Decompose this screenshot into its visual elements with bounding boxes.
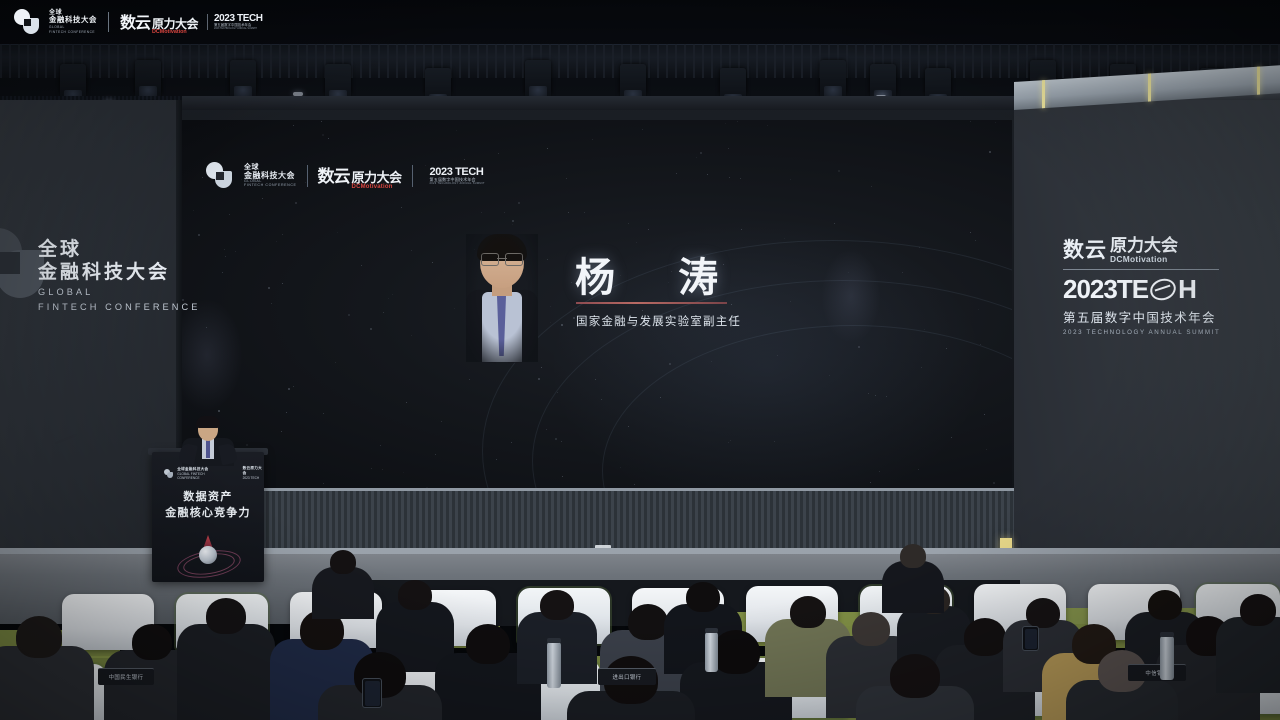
truss-rib	[189, 44, 191, 78]
truss-rib	[126, 44, 128, 78]
star	[271, 303, 272, 304]
star	[919, 247, 920, 248]
audience-person-body	[177, 624, 275, 720]
star	[401, 207, 402, 208]
star	[592, 139, 593, 140]
star	[573, 317, 575, 319]
truss-rib	[0, 44, 2, 78]
right-wall-dcmotivation: DCMotivation	[1110, 255, 1178, 264]
star	[337, 232, 338, 233]
stage-light	[525, 60, 551, 100]
table-nameplate: 进出口银行	[598, 668, 656, 685]
star	[262, 198, 263, 199]
star	[335, 362, 336, 363]
stage-guest-head	[330, 550, 356, 574]
truss-rib	[171, 44, 173, 78]
truss-rib	[27, 44, 29, 78]
left-wall-en1: GLOBAL	[38, 287, 200, 298]
truss-rib	[504, 44, 506, 78]
star	[879, 471, 880, 472]
star	[555, 438, 557, 440]
star	[741, 229, 742, 230]
podium-title: 数据资产 金融核心竞争力	[152, 490, 264, 522]
truss-rib	[567, 44, 569, 78]
truss-rib	[981, 44, 983, 78]
truss-rib	[288, 44, 290, 78]
stage-light	[820, 60, 846, 100]
truss-rib	[486, 44, 488, 78]
star	[707, 174, 708, 175]
watermark-tech-logo: 2023 TECH 第五届数字中国技术年会 2023 TECHNOLOGY AN…	[207, 14, 263, 31]
star	[870, 482, 871, 483]
truss-rib	[900, 44, 902, 78]
smartphone-icon[interactable]	[1022, 626, 1039, 651]
star	[767, 125, 768, 126]
truss-rib	[990, 44, 992, 78]
star	[511, 442, 512, 443]
truss-rib	[207, 44, 209, 78]
truss-rib	[810, 44, 812, 78]
truss-rib	[270, 44, 272, 78]
star	[403, 472, 404, 473]
water-bottle	[705, 632, 718, 672]
podium-partner-cn: 数云原力大会	[243, 466, 264, 476]
star	[193, 210, 194, 211]
truss-rib	[522, 44, 524, 78]
star	[435, 454, 436, 455]
star	[547, 148, 548, 149]
star	[829, 375, 830, 376]
podium-title-line1: 数据资产	[152, 490, 264, 506]
truss-rib	[369, 44, 371, 78]
podium-logo-lockup: 全球金融科技大会 GLOBAL FINTECH CONFERENCE 数云原力大…	[164, 466, 264, 480]
star	[328, 138, 329, 139]
truss-rib	[657, 44, 659, 78]
truss-rib	[792, 44, 794, 78]
watermark-gfc-en2: FINTECH CONFERENCE	[49, 31, 97, 35]
audience-person-head	[852, 612, 890, 646]
audience-person-head	[890, 654, 940, 698]
truss-rib	[747, 44, 749, 78]
star	[676, 173, 677, 174]
truss-rib	[468, 44, 470, 78]
audience-person-head	[466, 624, 510, 664]
truss-rib	[918, 44, 920, 78]
star	[293, 386, 294, 387]
gfc-monogram-icon	[206, 162, 234, 190]
star	[361, 265, 362, 266]
truss-rib	[36, 44, 38, 78]
star	[411, 335, 412, 336]
star	[978, 309, 979, 310]
star	[980, 344, 981, 345]
truss-rib	[1071, 44, 1073, 78]
star	[777, 355, 778, 356]
star	[902, 272, 903, 273]
left-wall-text: 全球 金融科技大会 GLOBAL FINTECH CONFERENCE	[38, 238, 200, 313]
truss-rib	[612, 44, 614, 78]
star	[518, 202, 520, 204]
right-wall-summit-en: 2023 TECHNOLOGY ANNUAL SUMMIT	[1063, 329, 1220, 336]
star	[790, 301, 791, 302]
star	[321, 121, 322, 122]
star	[557, 392, 558, 393]
audience-person-head	[1148, 590, 1182, 620]
watermark-divider	[108, 12, 109, 32]
star	[202, 177, 203, 178]
water-bottle	[1160, 636, 1174, 680]
star	[382, 469, 383, 470]
truss-rib	[180, 44, 182, 78]
star	[561, 441, 562, 442]
star	[774, 441, 775, 442]
star	[628, 426, 629, 427]
right-wall-yuanli: 原力大会	[1110, 237, 1178, 255]
audience-person-head	[964, 618, 1006, 656]
star	[546, 429, 547, 430]
audience-person-head	[1026, 598, 1060, 628]
right-wall-rule	[1063, 269, 1219, 270]
truss-rib	[693, 44, 695, 78]
audience-person-head	[206, 598, 246, 634]
audience-person-head	[540, 590, 574, 620]
truss-rib	[558, 44, 560, 78]
speaker-at-podium	[178, 418, 238, 462]
truss-rib	[711, 44, 713, 78]
truss-rib	[387, 44, 389, 78]
star	[504, 212, 505, 213]
star	[566, 178, 567, 179]
e-circle-icon	[1147, 275, 1178, 303]
star	[871, 186, 872, 187]
truss-rib	[1107, 44, 1109, 78]
star	[561, 324, 563, 326]
screen-dcm-logo: 数云 原力大会 DCMotivation	[318, 162, 402, 190]
table-nameplate-label: 中国民生银行	[109, 673, 144, 681]
star	[469, 379, 470, 380]
right-wall-h: H	[1178, 274, 1196, 305]
truss-rib	[846, 44, 848, 78]
star	[229, 214, 230, 215]
left-wall-cn2: 金融科技大会	[38, 261, 200, 284]
truss-rib	[864, 44, 866, 78]
star	[595, 379, 596, 380]
table-nameplate: 中国民生银行	[98, 668, 154, 685]
stage-light	[230, 60, 256, 100]
star	[295, 202, 297, 204]
star	[975, 240, 976, 241]
table-nameplate: 中信银行	[1128, 664, 1186, 681]
screen-dcm-en: DCMotivation	[352, 184, 402, 190]
stage-guest-head	[900, 544, 926, 568]
truss-rib	[1098, 44, 1100, 78]
truss-rib	[459, 44, 461, 78]
star	[246, 444, 248, 446]
watermark-dcm-cn: 数云	[120, 9, 150, 33]
watermark-gfc-monogram-icon	[14, 9, 40, 35]
star	[636, 242, 637, 243]
star	[946, 348, 947, 349]
phone-screen	[1025, 629, 1037, 649]
stage-light	[135, 60, 161, 100]
truss-rib	[306, 44, 308, 78]
star	[218, 410, 220, 412]
star	[512, 224, 513, 225]
star	[293, 125, 294, 126]
truss-rib	[261, 44, 263, 78]
star	[371, 468, 372, 469]
star	[660, 397, 661, 398]
star	[282, 234, 283, 235]
truss-rib	[54, 44, 56, 78]
smartphone-icon[interactable]	[362, 678, 382, 708]
bottle-cap	[547, 638, 561, 643]
star	[728, 148, 729, 149]
screen-logo-divider	[307, 165, 308, 187]
truss-rib	[999, 44, 1001, 78]
truss-rib	[963, 44, 965, 78]
star	[323, 483, 324, 484]
truss-rib	[45, 44, 47, 78]
star	[282, 283, 283, 284]
screen-tech-logo: 2023 TECH 第五届数字中国技术年会 2023 TECHNOLOGY AN…	[423, 167, 485, 185]
star	[547, 259, 548, 260]
watermark-tech-en: 2023 TECHNOLOGY ANNUAL SUMMIT	[214, 28, 263, 31]
truss-rib	[756, 44, 758, 78]
speaker-title: 国家金融与发展实验室副主任	[576, 313, 741, 329]
star	[370, 328, 372, 330]
screen-dcm-cn: 数云	[318, 162, 350, 187]
star	[886, 396, 887, 397]
star	[456, 130, 457, 131]
star	[406, 402, 407, 403]
star	[550, 322, 551, 323]
star	[348, 314, 350, 316]
truss-rib	[378, 44, 380, 78]
screen-gfc-en2: FINTECH CONFERENCE	[244, 184, 297, 188]
truss-rib	[198, 44, 200, 78]
star	[700, 152, 702, 154]
star	[498, 153, 499, 154]
star	[322, 134, 324, 136]
star	[921, 367, 922, 368]
star	[628, 223, 629, 224]
truss-rib	[117, 44, 119, 78]
star	[696, 157, 697, 158]
star	[848, 272, 849, 273]
audience-area: 中国民生银行进出口银行中信银行	[0, 560, 1280, 720]
star	[993, 482, 995, 484]
star	[225, 256, 226, 257]
star	[924, 329, 925, 330]
truss-rib	[675, 44, 677, 78]
podium-logo-en: GLOBAL FINTECH CONFERENCE	[177, 472, 223, 480]
star	[380, 445, 381, 446]
screen-logo-lockup: 全球 金融科技大会 GLOBAL FINTECH CONFERENCE 数云 原…	[206, 162, 485, 190]
star	[790, 179, 791, 180]
truss-rib	[513, 44, 515, 78]
screen-logo-divider-2	[412, 165, 413, 187]
star	[411, 250, 412, 251]
star	[995, 122, 996, 123]
audience-person-head	[1240, 594, 1276, 626]
back-wall-band	[182, 96, 1016, 110]
star	[918, 469, 919, 470]
truss-rib	[1062, 44, 1064, 78]
star	[642, 129, 643, 130]
star	[868, 393, 869, 394]
truss-rib	[774, 44, 776, 78]
right-wall-graphic: 数云 原力大会 DCMotivation 2023 TE H 第五届数字中国技术…	[1063, 234, 1220, 336]
truss-rib	[279, 44, 281, 78]
star	[737, 121, 738, 122]
star	[669, 363, 671, 365]
truss-rib	[495, 44, 497, 78]
star	[951, 437, 952, 438]
star	[281, 431, 282, 432]
truss-rib	[603, 44, 605, 78]
star	[206, 327, 207, 328]
star	[620, 467, 621, 468]
audience-person-head	[686, 582, 720, 612]
star	[224, 249, 225, 250]
speaker-name-rule	[576, 302, 727, 304]
truss-rib	[1089, 44, 1091, 78]
truss-rib	[162, 44, 164, 78]
truss-rib	[1080, 44, 1082, 78]
audience-person-head	[790, 596, 826, 628]
star	[323, 413, 324, 414]
truss-rib	[1008, 44, 1010, 78]
star	[834, 223, 835, 224]
audience-person-head	[712, 630, 760, 674]
star	[222, 272, 223, 273]
star	[784, 238, 785, 239]
right-wall-te: TE	[1117, 274, 1148, 305]
bottle-cap	[705, 628, 718, 633]
star	[601, 399, 602, 400]
truss-rib	[99, 44, 101, 78]
star	[481, 212, 482, 213]
truss-rib	[594, 44, 596, 78]
right-wall-summit-cn: 第五届数字中国技术年会	[1063, 307, 1220, 326]
star	[970, 121, 971, 122]
star	[541, 367, 542, 368]
speaker-portrait	[466, 234, 538, 362]
left-wall-cn1: 全球	[38, 238, 200, 261]
screen-gfc-text: 全球 金融科技大会 GLOBAL FINTECH CONFERENCE	[244, 164, 297, 188]
truss-rib	[1017, 44, 1019, 78]
truss-rib	[855, 44, 857, 78]
bottle-cap	[1160, 632, 1174, 637]
truss-rib	[18, 44, 20, 78]
screen-dcm-cn2: 原力大会	[352, 171, 402, 184]
conference-hall-scene: 全球 金融科技大会 GLOBAL FINTECH CONFERENCE 数云 原…	[0, 0, 1280, 720]
star	[648, 229, 649, 230]
right-wall-year: 2023	[1063, 274, 1117, 305]
watermark-gfc-cn2: 金融科技大会	[49, 16, 97, 24]
star	[970, 232, 971, 233]
star	[584, 212, 585, 213]
right-wall	[1014, 88, 1280, 600]
truss-rib	[477, 44, 479, 78]
truss-rib	[360, 44, 362, 78]
truss-rib	[9, 44, 11, 78]
audience-person-head	[132, 624, 172, 660]
star	[729, 177, 730, 178]
podium-gfc-monogram-icon	[164, 469, 172, 478]
star	[432, 262, 433, 263]
watermark-dcm-logo: 数云 原力大会 DCMotivation	[120, 9, 198, 35]
truss-rib	[90, 44, 92, 78]
star	[235, 251, 236, 252]
truss-rib	[702, 44, 704, 78]
star	[740, 178, 741, 179]
star	[383, 312, 384, 313]
star	[388, 298, 389, 299]
screen-tech-en: 2023 TECHNOLOGY ANNUAL SUMMIT	[430, 183, 485, 186]
star	[550, 306, 551, 307]
watermark-dcm-en: DCMotivation	[152, 30, 198, 35]
star	[454, 308, 455, 309]
truss-rib	[783, 44, 785, 78]
broadcast-watermark: 全球 金融科技大会 GLOBAL FINTECH CONFERENCE 数云 原…	[14, 9, 263, 35]
star	[634, 484, 635, 485]
star	[496, 459, 497, 460]
truss-rib	[684, 44, 686, 78]
star	[711, 361, 712, 362]
star	[276, 241, 277, 242]
star	[728, 442, 729, 443]
truss-rib	[414, 44, 416, 78]
star	[731, 304, 732, 305]
star	[268, 287, 270, 289]
right-wall-tech-lockup: 2023 TE H	[1063, 274, 1220, 305]
truss-rib	[405, 44, 407, 78]
star	[725, 123, 726, 124]
star	[571, 282, 572, 283]
truss-rib	[972, 44, 974, 78]
truss-rib	[648, 44, 650, 78]
truss-rib	[576, 44, 578, 78]
watermark-gfc-en1: GLOBAL	[49, 26, 97, 30]
truss-rib	[909, 44, 911, 78]
table-nameplate-label: 进出口银行	[613, 673, 642, 681]
truss-rib	[315, 44, 317, 78]
star	[858, 346, 860, 348]
star	[441, 421, 442, 422]
right-wall-shuyun: 数云	[1063, 234, 1107, 264]
star	[730, 440, 731, 441]
truss-rib	[585, 44, 587, 78]
audience-person-head	[628, 604, 668, 640]
audience-person-head	[16, 616, 62, 658]
water-bottle	[547, 642, 561, 688]
audience-person-body	[1216, 617, 1280, 693]
truss-rib	[297, 44, 299, 78]
star	[984, 414, 985, 415]
truss-rib	[216, 44, 218, 78]
truss-rib	[108, 44, 110, 78]
podium-title-line2: 金融核心竞争力	[152, 506, 264, 522]
star	[986, 449, 987, 450]
truss-rib	[666, 44, 668, 78]
star	[512, 220, 514, 222]
watermark-gfc-text: 全球 金融科技大会 GLOBAL FINTECH CONFERENCE	[49, 10, 97, 35]
star	[838, 170, 840, 172]
truss-rib	[225, 44, 227, 78]
audience-person-head	[398, 580, 432, 610]
